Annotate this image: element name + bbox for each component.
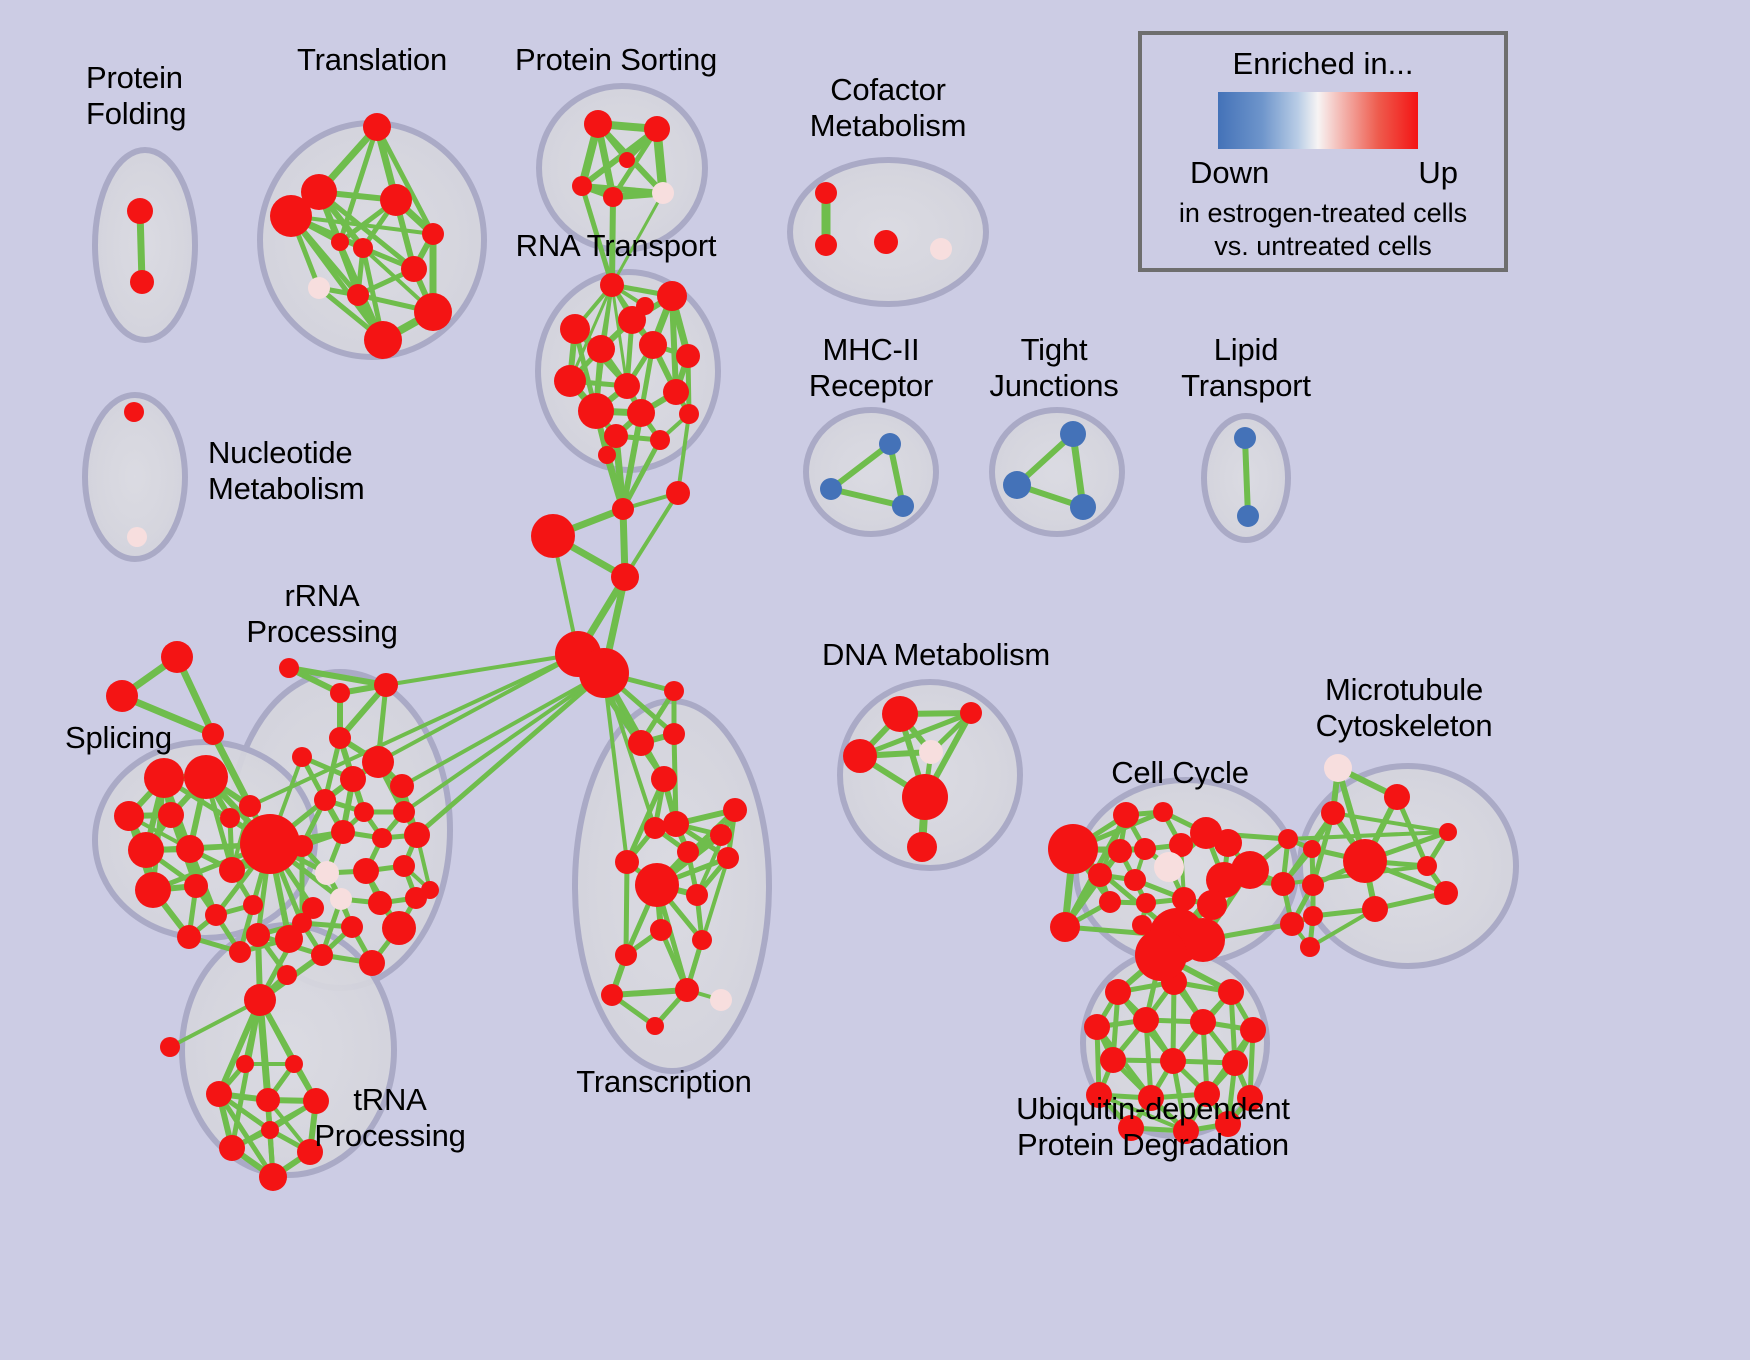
network-node[interactable] [1099,891,1121,913]
cluster-label-protein-sorting: Protein Sorting [515,42,717,78]
network-node[interactable] [584,110,612,138]
cluster-label-cell-cycle: Cell Cycle [1111,755,1249,791]
network-node[interactable] [219,857,245,883]
network-node[interactable] [657,281,687,311]
network-node[interactable] [1237,505,1259,527]
network-node[interactable] [600,273,624,297]
network-edge [417,673,604,835]
legend-title: Enriched in... [1142,46,1504,82]
network-node[interactable] [1300,937,1320,957]
network-node[interactable] [1302,874,1324,896]
network-node[interactable] [1362,896,1388,922]
network-node[interactable] [960,702,982,724]
network-node[interactable] [393,801,415,823]
network-node[interactable] [1197,890,1227,920]
network-node[interactable] [243,895,263,915]
cluster-label-rrna-processing: rRNA Processing [246,578,397,650]
network-node[interactable] [261,1121,279,1139]
network-node[interactable] [560,314,590,344]
network-node[interactable] [144,758,184,798]
network-node[interactable] [124,402,144,422]
network-node[interactable] [892,495,914,517]
network-node[interactable] [598,446,616,464]
network-node[interactable] [907,832,937,862]
network-node[interactable] [330,683,350,703]
network-node[interactable] [1280,912,1304,936]
cluster-label-tight-junctions: Tight Junctions [989,332,1118,404]
network-node[interactable] [354,802,374,822]
cluster-label-splicing: Splicing [65,720,172,756]
network-node[interactable] [1321,801,1345,825]
network-node[interactable] [1113,802,1139,828]
network-node[interactable] [554,365,586,397]
network-node[interactable] [628,730,654,756]
network-node[interactable] [353,858,379,884]
network-node[interactable] [710,824,732,846]
network-node[interactable] [380,184,412,216]
network-node[interactable] [1088,863,1112,887]
network-node[interactable] [604,424,628,448]
network-node[interactable] [666,481,690,505]
network-node[interactable] [353,238,373,258]
network-node[interactable] [615,850,639,874]
network-node[interactable] [1124,869,1146,891]
network-node[interactable] [1181,918,1225,962]
network-node[interactable] [277,965,297,985]
network-node[interactable] [106,680,138,712]
network-node[interactable] [236,1055,254,1073]
network-node[interactable] [627,399,655,427]
network-node[interactable] [644,116,670,142]
network-node[interactable] [815,234,837,256]
legend-subtitle-line2: vs. untreated cells [1142,231,1504,262]
network-node[interactable] [572,176,592,196]
network-node[interactable] [1434,881,1458,905]
network-node[interactable] [311,944,333,966]
network-node[interactable] [158,802,184,828]
network-node[interactable] [127,198,153,224]
cluster-blob-tight-junctions [992,410,1122,534]
network-node[interactable] [1133,1007,1159,1033]
network-node[interactable] [256,1088,280,1112]
network-node[interactable] [1084,1014,1110,1040]
network-node[interactable] [717,847,739,869]
network-node[interactable] [291,835,313,857]
network-node[interactable] [372,828,392,848]
network-node[interactable] [652,182,674,204]
network-node[interactable] [279,658,299,678]
cluster-blob-protein-folding [95,150,195,340]
network-node[interactable] [650,430,670,450]
network-node[interactable] [579,648,629,698]
network-node[interactable] [368,891,392,915]
network-node[interactable] [270,195,312,237]
network-node[interactable] [882,696,918,732]
network-edge [1245,438,1248,516]
network-node[interactable] [331,820,355,844]
cluster-label-dna-metabolism: DNA Metabolism [822,637,1050,673]
network-node[interactable] [1417,856,1437,876]
network-node[interactable] [329,727,351,749]
network-node[interactable] [161,641,193,673]
network-node[interactable] [619,152,635,168]
network-node[interactable] [1324,754,1352,782]
network-node[interactable] [331,233,349,251]
network-node[interactable] [1343,839,1387,883]
network-node[interactable] [578,393,614,429]
network-node[interactable] [611,563,639,591]
network-node[interactable] [843,739,877,773]
network-node[interactable] [639,331,667,359]
network-node[interactable] [614,373,640,399]
network-node[interactable] [675,978,699,1002]
network-node[interactable] [390,774,414,798]
network-node[interactable] [244,984,276,1016]
network-node[interactable] [1160,1048,1186,1074]
network-node[interactable] [1303,840,1321,858]
network-node[interactable] [220,808,240,828]
network-node[interactable] [308,277,330,299]
network-node[interactable] [362,746,394,778]
network-node[interactable] [176,835,204,863]
cluster-label-nucleotide-metabolism: Nucleotide Metabolism [208,435,365,507]
network-node[interactable] [341,916,363,938]
network-node[interactable] [177,925,201,949]
network-node[interactable] [587,335,615,363]
network-node[interactable] [603,187,623,207]
network-node[interactable] [1135,929,1187,981]
network-node[interactable] [710,989,732,1011]
cluster-blob-protein-sorting [539,86,705,250]
network-node[interactable] [114,801,144,831]
network-node[interactable] [393,855,415,877]
network-node[interactable] [205,904,227,926]
network-node[interactable] [1136,893,1156,913]
network-node[interactable] [644,817,666,839]
network-node[interactable] [128,832,164,868]
network-node[interactable] [1003,471,1031,499]
network-node[interactable] [363,113,391,141]
network-node[interactable] [1070,494,1096,520]
network-node[interactable] [679,404,699,424]
network-node[interactable] [292,747,312,767]
network-node[interactable] [259,1163,287,1191]
network-node[interactable] [315,861,339,885]
network-node[interactable] [127,527,147,547]
network-node[interactable] [615,944,637,966]
cluster-label-mhc-ii-receptor: MHC-II Receptor [809,332,933,404]
network-node[interactable] [1172,887,1196,911]
network-node[interactable] [1214,829,1242,857]
network-node[interactable] [184,874,208,898]
network-node[interactable] [651,766,677,792]
network-node[interactable] [815,182,837,204]
network-node[interactable] [347,284,369,306]
network-node[interactable] [919,740,943,764]
legend-low-label: Down [1190,155,1269,191]
network-node[interactable] [285,1055,303,1073]
network-node[interactable] [650,919,672,941]
network-node[interactable] [135,872,171,908]
network-edge [626,862,627,955]
network-node[interactable] [676,344,700,368]
network-node[interactable] [663,379,689,405]
cluster-label-transcription: Transcription [576,1064,751,1100]
network-node[interactable] [1060,421,1086,447]
network-node[interactable] [1048,824,1098,874]
network-node[interactable] [686,884,708,906]
cluster-label-microtubule-cytoskeleton: Microtubule Cytoskeleton [1316,672,1493,744]
network-node[interactable] [184,755,228,799]
network-node[interactable] [663,723,685,745]
network-node[interactable] [421,881,439,899]
network-node[interactable] [1384,784,1410,810]
network-node[interactable] [246,923,270,947]
legend-high-label: Up [1418,155,1458,191]
network-node[interactable] [874,230,898,254]
network-node[interactable] [1153,802,1173,822]
network-node[interactable] [677,841,699,863]
network-figure: Protein FoldingTranslationProtein Sortin… [0,0,1750,1360]
network-node[interactable] [1105,979,1131,1005]
network-node[interactable] [240,814,300,874]
cluster-label-cofactor-metabolism: Cofactor Metabolism [810,72,967,144]
network-node[interactable] [820,478,842,500]
network-node[interactable] [663,811,689,837]
network-node[interactable] [206,1081,232,1107]
network-node[interactable] [1218,979,1244,1005]
network-node[interactable] [601,984,623,1006]
network-node[interactable] [340,766,366,792]
network-node[interactable] [292,913,312,933]
network-node[interactable] [879,433,901,455]
network-node[interactable] [130,270,154,294]
network-node[interactable] [422,223,444,245]
network-node[interactable] [382,911,416,945]
network-node[interactable] [1050,912,1080,942]
network-node[interactable] [1240,1017,1266,1043]
network-node[interactable] [1100,1047,1126,1073]
legend-color-bar [1218,92,1418,149]
cluster-label-translation: Translation [297,42,447,78]
cluster-label-rna-transport: RNA Transport [516,228,717,264]
network-node[interactable] [1108,839,1132,863]
network-node[interactable] [364,321,402,359]
network-node[interactable] [239,795,261,817]
network-node[interactable] [314,789,336,811]
cluster-label-ubiquitin-protein-degradation: Ubiquitin-dependent Protein Degradation [1016,1091,1290,1163]
network-node[interactable] [635,863,679,907]
network-node[interactable] [1303,906,1323,926]
cluster-label-lipid-transport: Lipid Transport [1181,332,1311,404]
network-node[interactable] [636,297,654,315]
network-node[interactable] [330,888,352,910]
network-node[interactable] [202,723,224,745]
network-node[interactable] [902,774,948,820]
network-node[interactable] [646,1017,664,1035]
network-node[interactable] [723,798,747,822]
network-node[interactable] [160,1037,180,1057]
network-node[interactable] [930,238,952,260]
cluster-blob-mhc-ii-receptor [806,410,936,534]
legend-subtitle-line1: in estrogen-treated cells [1142,198,1504,229]
network-node[interactable] [359,950,385,976]
network-node[interactable] [414,293,452,331]
cluster-label-trna-processing: tRNA Processing [314,1082,465,1154]
network-node[interactable] [1234,427,1256,449]
network-node[interactable] [404,822,430,848]
network-node[interactable] [531,514,575,558]
network-node[interactable] [692,930,712,950]
network-node[interactable] [219,1135,245,1161]
cluster-label-protein-folding: Protein Folding [86,60,186,132]
network-node[interactable] [1271,872,1295,896]
network-node[interactable] [1222,1050,1248,1076]
network-node[interactable] [374,673,398,697]
network-node[interactable] [401,256,427,282]
network-node[interactable] [1278,829,1298,849]
network-node[interactable] [612,498,634,520]
network-node[interactable] [1190,1009,1216,1035]
network-node[interactable] [1134,838,1156,860]
network-node[interactable] [1154,852,1184,882]
network-node[interactable] [229,941,251,963]
network-node[interactable] [1439,823,1457,841]
network-node[interactable] [664,681,684,701]
legend-panel: Enriched in... Down Up in estrogen-treat… [1138,31,1508,272]
